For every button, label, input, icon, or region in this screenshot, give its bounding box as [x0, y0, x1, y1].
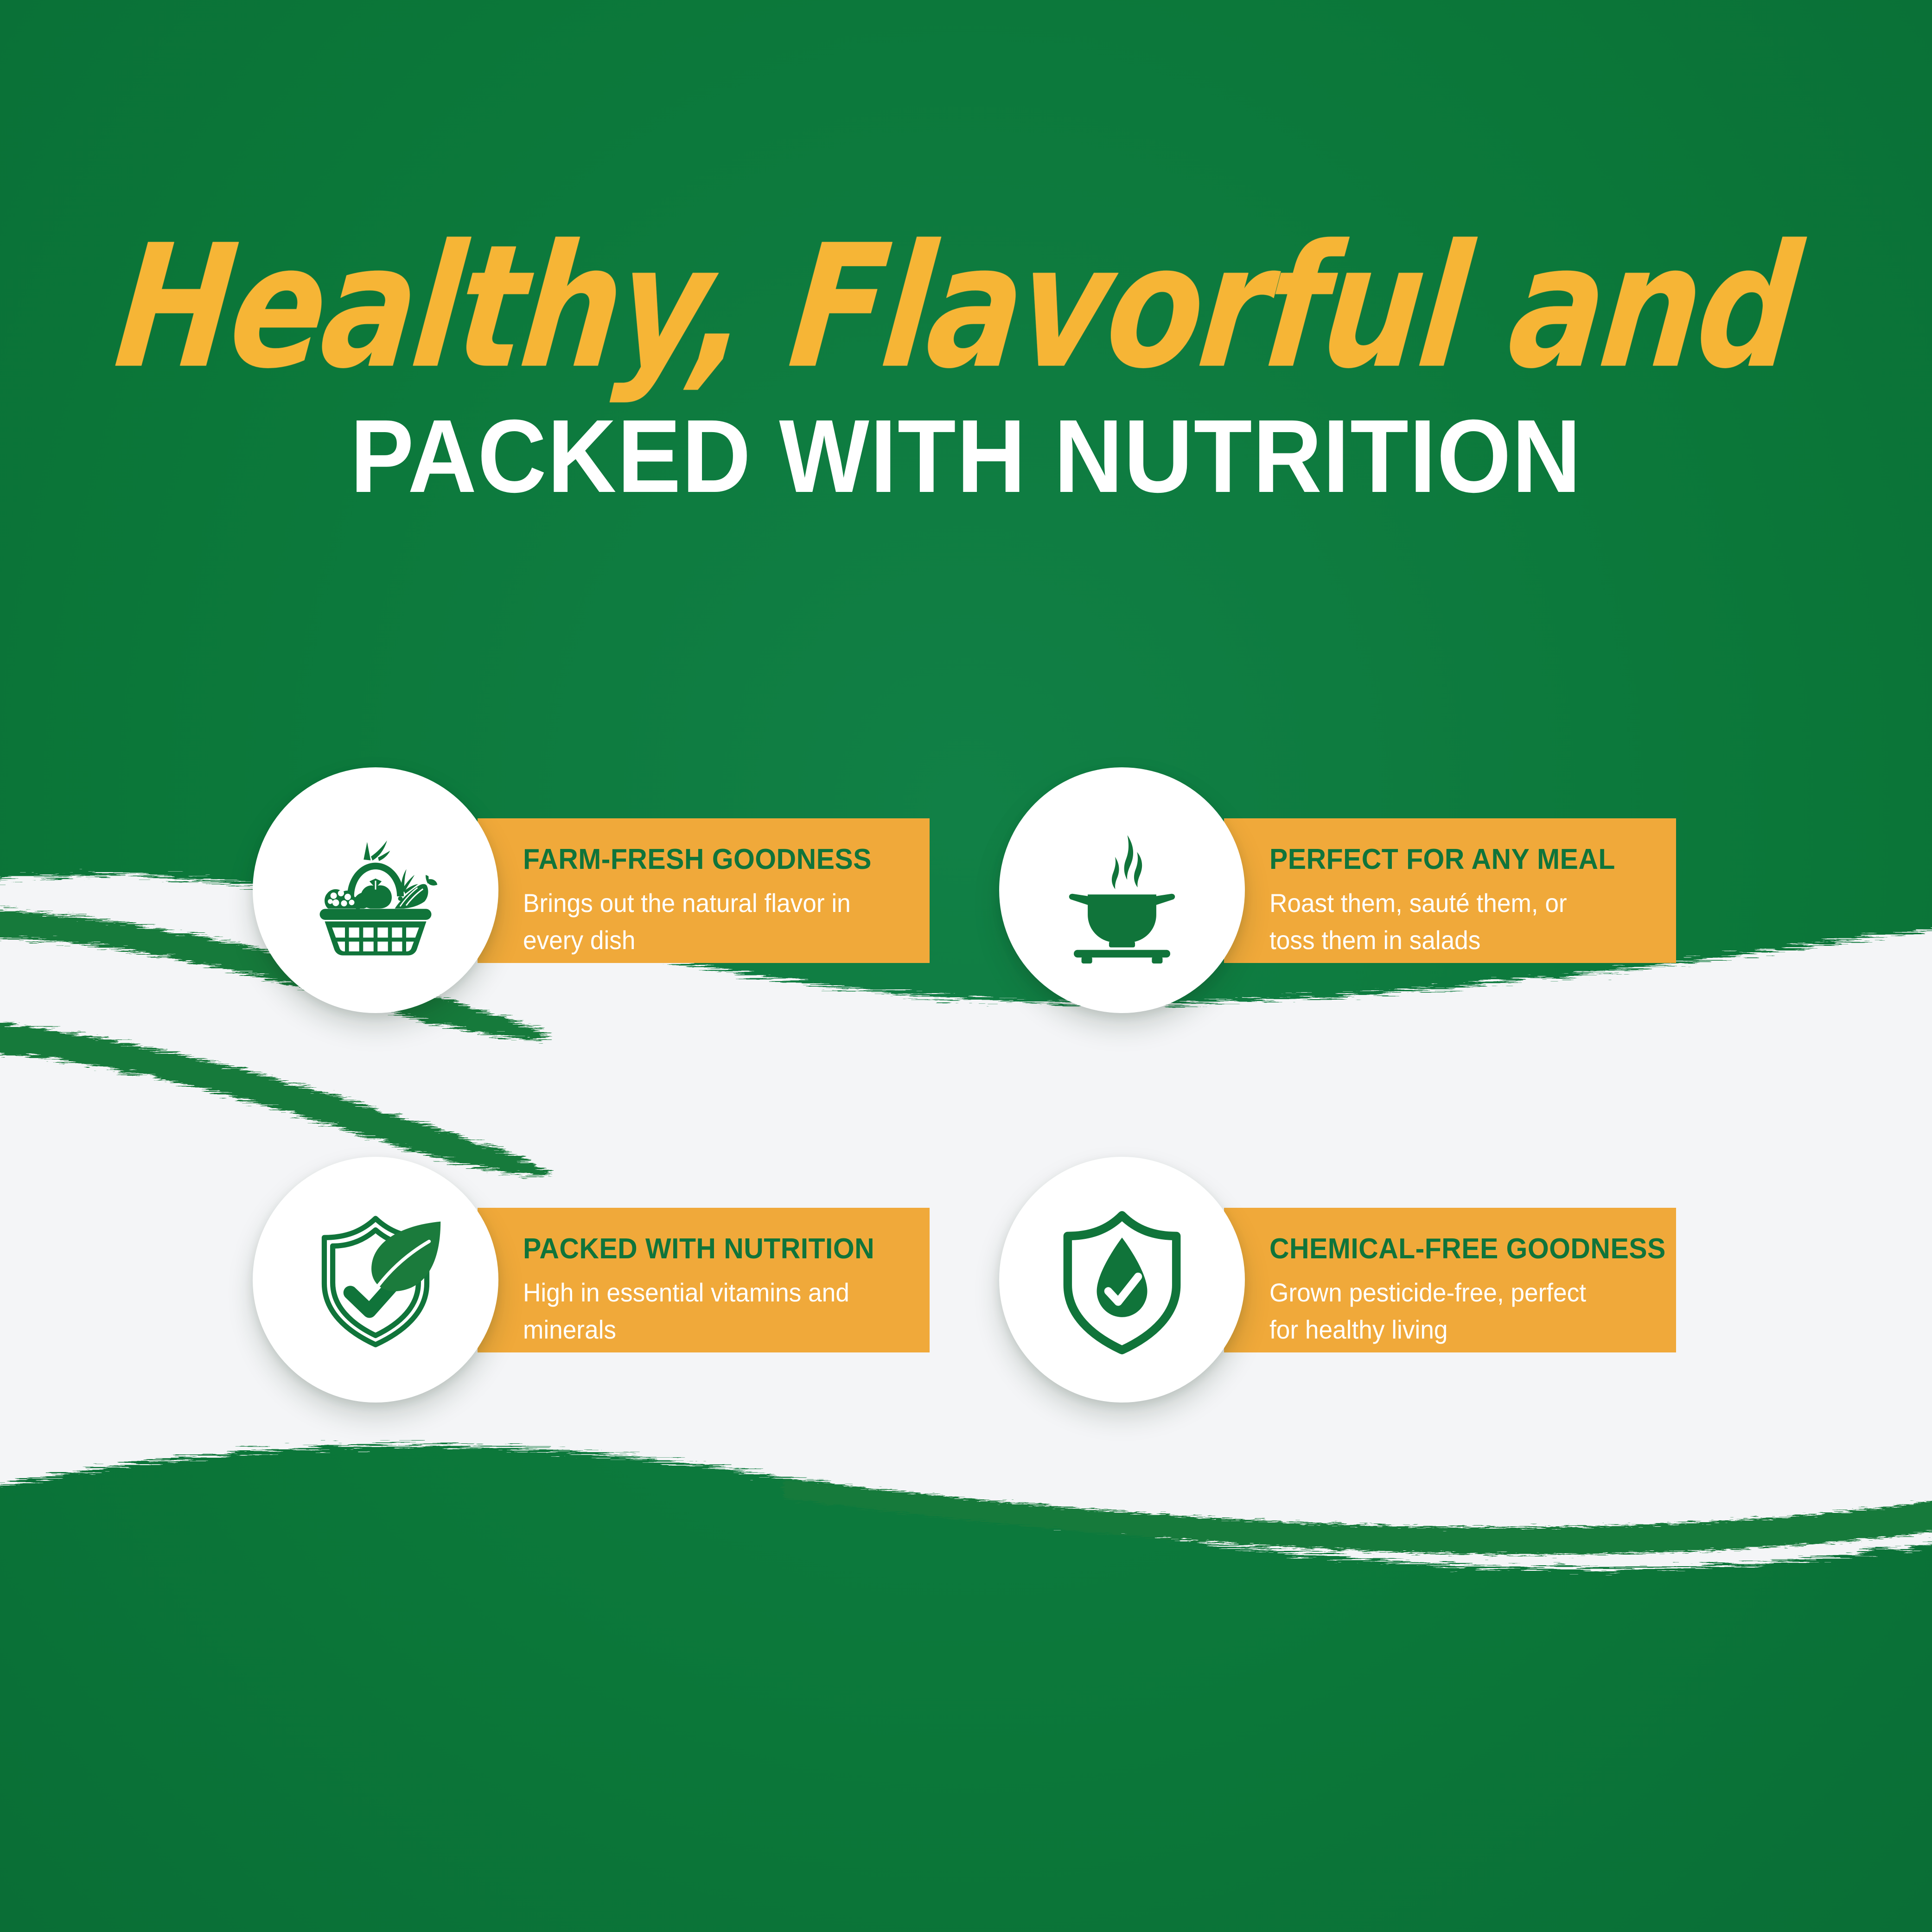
feature-card-chemical-free[interactable]: CHEMICAL-FREE GOODNESS Grown pesticide-f… — [999, 1157, 1722, 1416]
shield-leaf-check-icon — [299, 1203, 452, 1356]
feature-icon-badge[interactable] — [999, 767, 1245, 1013]
feature-card-any-meal[interactable]: PERFECT FOR ANY MEAL Roast them, sauté t… — [999, 767, 1722, 1027]
headline-script-line: Healthy, Flavorful and — [0, 223, 1932, 392]
feature-description: Roast them, sauté them, or toss them in … — [1269, 885, 1618, 958]
feature-icon-badge[interactable] — [999, 1157, 1245, 1403]
feature-icon-badge[interactable] — [253, 1157, 498, 1403]
vegetable-basket-icon — [299, 814, 452, 967]
shield-droplet-check-icon — [1046, 1203, 1199, 1356]
feature-label-box: PERFECT FOR ANY MEAL Roast them, sauté t… — [1224, 818, 1676, 963]
headline-bold-line: PACKED WITH NUTRITION — [77, 404, 1855, 508]
poster-canvas: Healthy, Flavorful and PACKED WITH NUTRI… — [0, 0, 1932, 1932]
feature-description: Grown pesticide-free, perfect for health… — [1269, 1274, 1618, 1348]
feature-label-box: CHEMICAL-FREE GOODNESS Grown pesticide-f… — [1224, 1208, 1676, 1352]
feature-card-farm-fresh[interactable]: FARM-FRESH GOODNESS Brings out the natur… — [253, 767, 976, 1027]
feature-title: FARM-FRESH GOODNESS — [523, 844, 909, 874]
feature-label-box: PACKED WITH NUTRITION High in essential … — [478, 1208, 930, 1352]
feature-title: PACKED WITH NUTRITION — [523, 1234, 909, 1264]
feature-grid: FARM-FRESH GOODNESS Brings out the natur… — [0, 767, 1932, 1440]
headline-block: Healthy, Flavorful and PACKED WITH NUTRI… — [0, 223, 1932, 508]
feature-title: PERFECT FOR ANY MEAL — [1269, 844, 1656, 874]
feature-label-box: FARM-FRESH GOODNESS Brings out the natur… — [478, 818, 930, 963]
feature-description: High in essential vitamins and minerals — [523, 1274, 871, 1348]
cooking-pot-icon — [1046, 814, 1199, 967]
feature-title: CHEMICAL-FREE GOODNESS — [1269, 1234, 1656, 1264]
feature-description: Brings out the natural flavor in every d… — [523, 885, 871, 958]
feature-card-packed-nutrition[interactable]: PACKED WITH NUTRITION High in essential … — [253, 1157, 976, 1416]
feature-icon-badge[interactable] — [253, 767, 498, 1013]
